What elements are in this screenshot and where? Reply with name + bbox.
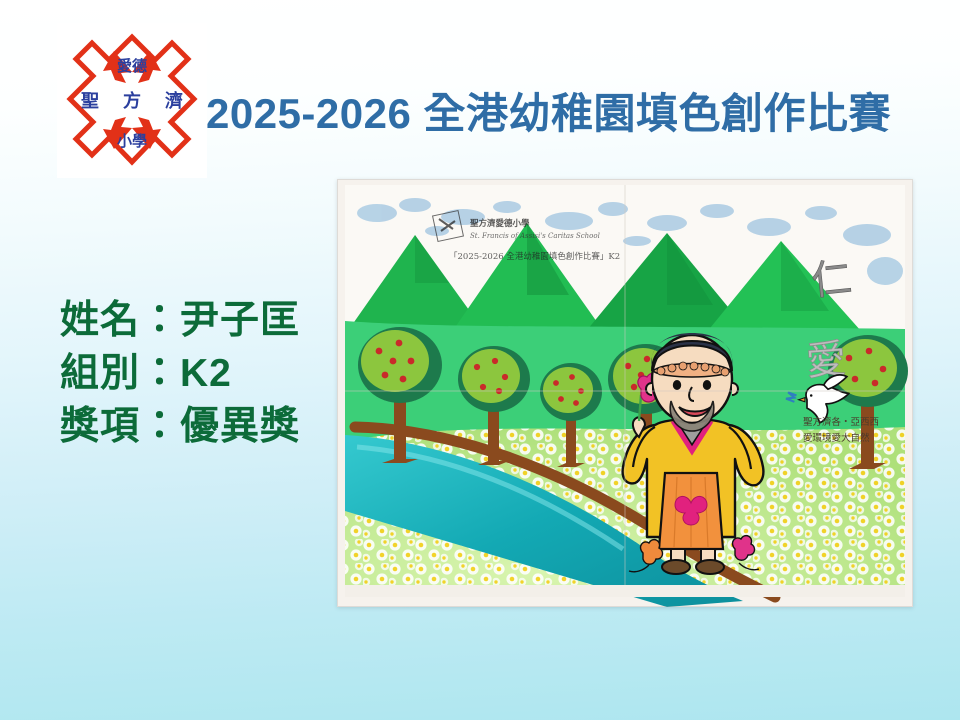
logo-text-mid-center: 方: [123, 90, 141, 112]
svg-text:「2025-2026 全港幼稚園填色創作比賽」K2: 「2025-2026 全港幼稚園填色創作比賽」K2: [449, 251, 620, 262]
page-title: 2025-2026 全港幼稚園填色創作比賽: [206, 83, 936, 145]
caption-line-2: 愛環境愛大自然: [803, 432, 870, 444]
svg-text:St. Francis of Assisi's Carita: St. Francis of Assisi's Caritas School: [470, 232, 600, 240]
school-logo-graphic: 愛德 聖 方 濟 小學: [57, 23, 207, 178]
artwork-illustration: 仁 愛 聖方濟愛德小學 St. Francis of Assisi's Cari…: [337, 179, 913, 607]
logo-text-top: 愛德: [117, 57, 147, 75]
logo-text-mid-right: 濟: [165, 90, 183, 112]
school-logo: 愛德 聖 方 濟 小學: [57, 23, 207, 178]
info-row-award: 獎項：優異獎: [60, 400, 340, 453]
info-row-name: 姓名：尹子匡: [60, 294, 340, 347]
logo-text-bottom: 小學: [117, 132, 147, 150]
svg-text:聖方濟愛德小學: 聖方濟愛德小學: [470, 218, 530, 229]
info-row-group: 組別：K2: [60, 347, 340, 400]
entrant-info: 姓名：尹子匡 組別：K2 獎項：優異獎: [60, 294, 340, 453]
caption-line-1: 聖方濟各‧亞西西: [803, 416, 879, 428]
slide-canvas: 愛德 聖 方 濟 小學 2025-2026 全港幼稚園填色創作比賽 姓名：尹子匡…: [0, 0, 960, 720]
calligraphy-ren: 仁: [809, 255, 854, 305]
artwork-photo: 仁 愛 聖方濟愛德小學 St. Francis of Assisi's Cari…: [337, 179, 913, 607]
logo-text-mid-left: 聖: [81, 91, 99, 112]
